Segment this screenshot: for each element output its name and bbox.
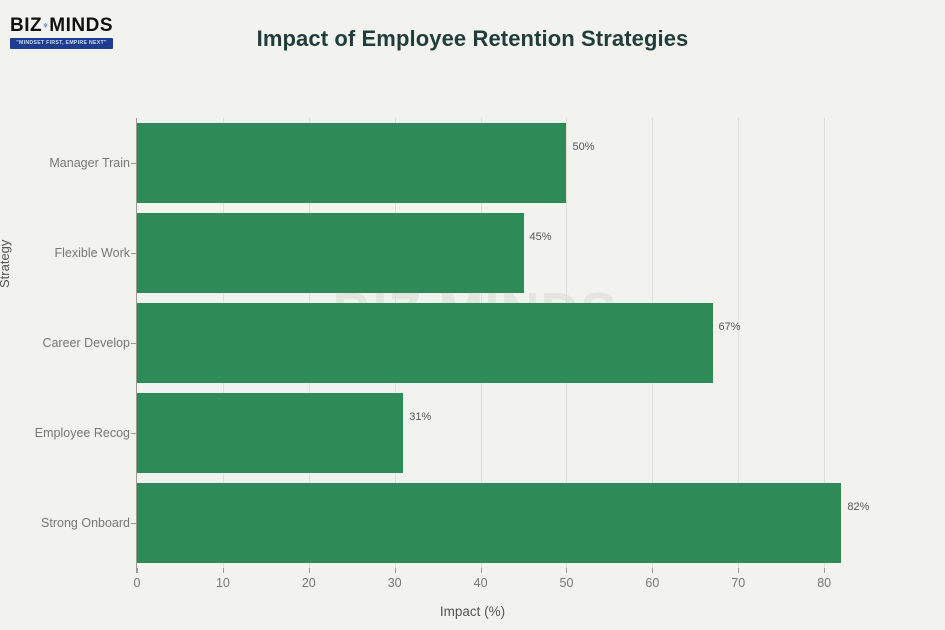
bar-row[interactable] <box>137 213 880 293</box>
x-tick-label: 20 <box>302 576 316 590</box>
x-tick-label: 10 <box>216 576 230 590</box>
x-axis-title: Impact (%) <box>0 604 945 619</box>
bar-row[interactable] <box>137 123 880 203</box>
x-tick-label: 40 <box>474 576 488 590</box>
bar-value-label: 67% <box>719 321 741 333</box>
x-tick-mark <box>395 568 396 573</box>
bar[interactable] <box>137 213 524 293</box>
y-tick-label: Employee Recog <box>0 426 130 440</box>
x-tick-mark <box>738 568 739 573</box>
bar[interactable] <box>137 303 713 383</box>
bar[interactable] <box>137 483 841 563</box>
x-tick-mark <box>223 568 224 573</box>
plot-area: 50%45%67%31%82% <box>137 118 880 568</box>
bar-value-label: 31% <box>409 411 431 423</box>
bar-value-label: 82% <box>847 501 869 513</box>
x-tick-label: 30 <box>388 576 402 590</box>
y-tick-label: Career Develop <box>0 336 130 350</box>
x-tick-label: 50 <box>560 576 574 590</box>
x-tick-mark <box>824 568 825 573</box>
bar-row[interactable] <box>137 393 880 473</box>
y-tick-label: Manager Train <box>0 156 130 170</box>
y-axis-labels: Manager TrainFlexible WorkCareer Develop… <box>0 118 130 568</box>
bar-value-label: 45% <box>530 231 552 243</box>
x-tick-mark <box>309 568 310 573</box>
chart-canvas: BIZ MINDS "MINDSET FIRST <box>0 0 945 630</box>
x-tick-label: 60 <box>645 576 659 590</box>
x-tick-label: 70 <box>731 576 745 590</box>
y-tick-label: Strong Onboard <box>0 516 130 530</box>
y-tick-label: Flexible Work <box>0 246 130 260</box>
x-tick-label: 0 <box>134 576 141 590</box>
x-axis: 01020304050607080 <box>137 568 880 598</box>
chart-title: Impact of Employee Retention Strategies <box>0 26 945 52</box>
x-tick-mark <box>481 568 482 573</box>
bar-row[interactable] <box>137 303 880 383</box>
bar[interactable] <box>137 123 566 203</box>
bar[interactable] <box>137 393 403 473</box>
x-tick-mark <box>137 568 138 573</box>
bar-value-label: 50% <box>572 141 594 153</box>
bar-row[interactable] <box>137 483 880 563</box>
x-tick-mark <box>652 568 653 573</box>
x-tick-mark <box>566 568 567 573</box>
x-tick-label: 80 <box>817 576 831 590</box>
